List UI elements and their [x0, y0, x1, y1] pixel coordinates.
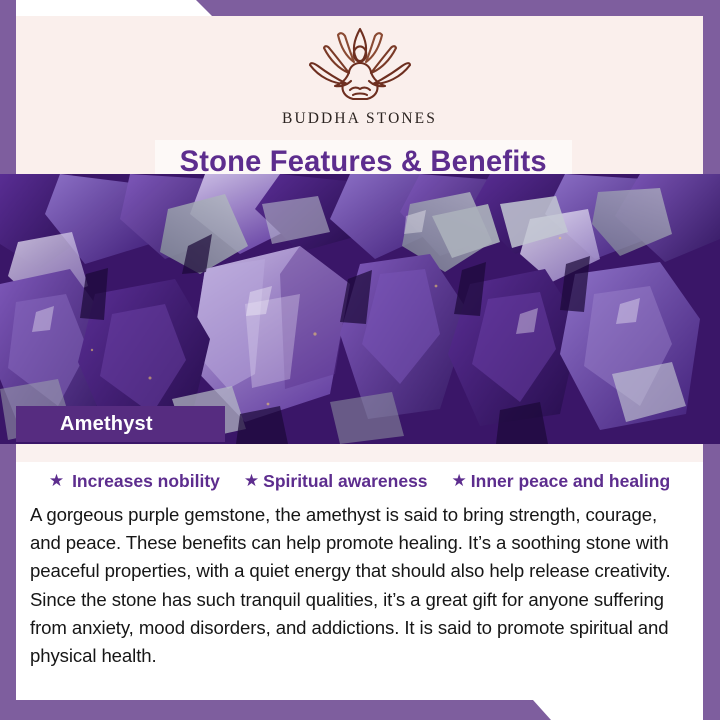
stone-name-banner: Amethyst [16, 406, 225, 442]
lotus-meditation-icon [297, 24, 423, 108]
stone-name: Amethyst [60, 413, 153, 436]
star-icon: ★ [244, 472, 259, 489]
benefit-label: Inner peace and healing [471, 471, 670, 492]
benefit-label: Spiritual awareness [263, 471, 427, 492]
page-title: Stone Features & Benefits [180, 145, 547, 174]
benefit-item-2: ★ Inner peace and healing [452, 471, 671, 492]
benefit-item-1: ★ Spiritual awareness [244, 471, 428, 492]
header: BUDDHA STONES Stone Features & Benefits [16, 16, 703, 174]
brand-logo: BUDDHA STONES [16, 24, 703, 128]
page-title-band: Stone Features & Benefits [155, 140, 572, 174]
star-icon: ★ [452, 472, 467, 489]
divider-strip [16, 444, 703, 462]
infographic-page: BUDDHA STONES Stone Features & Benefits [0, 0, 720, 720]
benefit-label: Increases nobility [72, 471, 220, 492]
star-icon: ★ [49, 472, 64, 489]
hero-image [0, 174, 720, 444]
brand-name: BUDDHA STONES [282, 110, 437, 128]
frame-top-border [0, 0, 720, 16]
benefits-list: ★ Increases nobility ★ Spiritual awarene… [16, 462, 703, 492]
benefit-item-0: ★ Increases nobility [49, 471, 220, 492]
amethyst-crystal-cluster-photo [0, 174, 720, 444]
frame-bottom-border [0, 700, 720, 720]
stone-description: A gorgeous purple gemstone, the amethyst… [30, 501, 689, 670]
content-panel: ★ Increases nobility ★ Spiritual awarene… [16, 462, 703, 700]
